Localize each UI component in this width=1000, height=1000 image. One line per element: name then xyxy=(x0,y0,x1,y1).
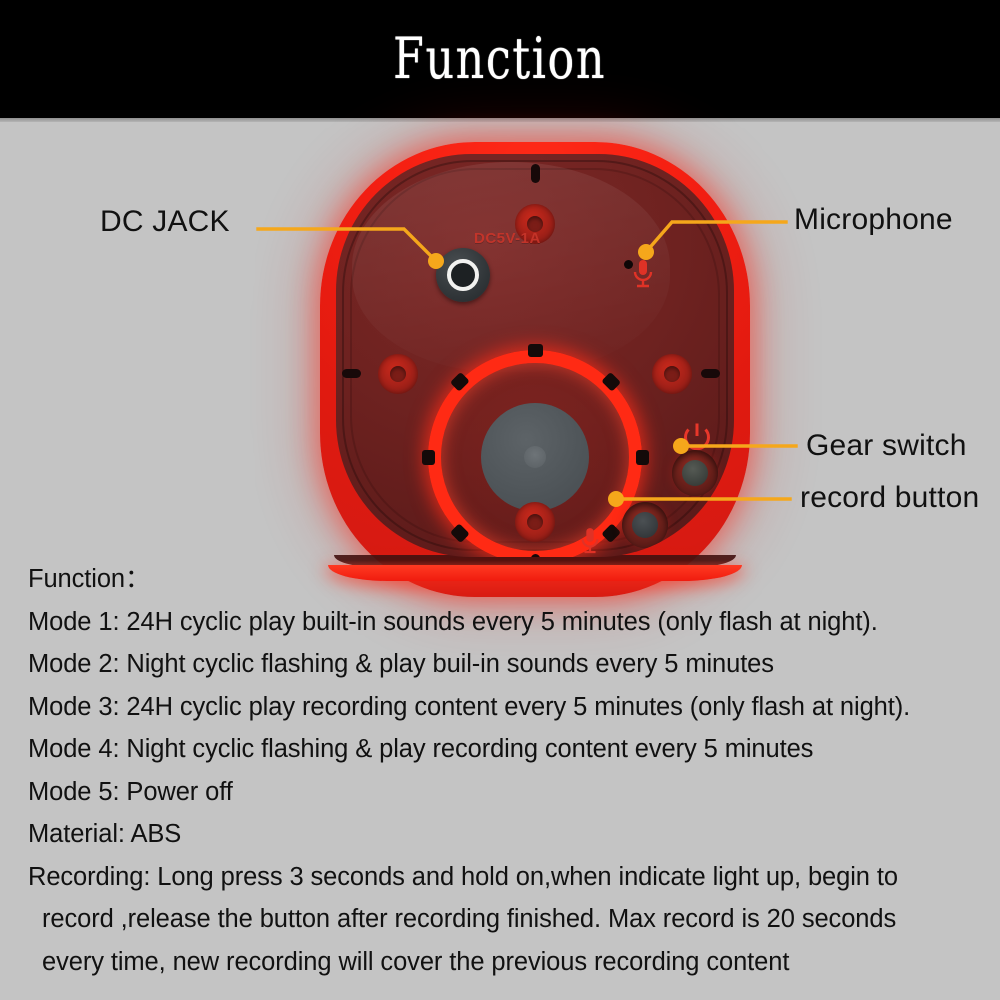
function-material-line: Material: ABS xyxy=(28,813,996,856)
record-button-cap xyxy=(632,512,658,538)
callout-label-dc-jack: DC JACK xyxy=(100,205,230,239)
recording-line-3: every time, new recording will cover the… xyxy=(28,941,996,984)
vent-slot xyxy=(531,554,540,557)
record-button[interactable] xyxy=(622,502,668,548)
screw-post-bottom xyxy=(515,502,555,542)
vent-slot xyxy=(342,369,361,378)
screw-post-left xyxy=(378,354,418,394)
callout-label-record-button: record button xyxy=(800,481,979,515)
microphone-icon xyxy=(578,526,602,556)
function-mode-line-3: Mode 3: 24H cyclic play recording conten… xyxy=(28,686,996,729)
infographic-page: Function xyxy=(0,0,1000,1000)
center-hole xyxy=(524,446,546,468)
screw-post-right xyxy=(652,354,692,394)
vent-slot xyxy=(701,369,720,378)
function-mode-line-1: Mode 1: 24H cyclic play built-in sounds … xyxy=(28,601,996,644)
device-top-face: DC5V-1A xyxy=(336,154,734,557)
page-title: Function xyxy=(394,26,607,92)
function-mode-line-2: Mode 2: Night cyclic flashing & play bui… xyxy=(28,643,996,686)
recording-line-1: Recording: Long press 3 seconds and hold… xyxy=(28,856,996,899)
device-body: DC5V-1A xyxy=(320,142,750,597)
ring-clip xyxy=(422,450,435,465)
vent-slot xyxy=(531,164,540,183)
gear-switch-cap xyxy=(682,460,708,486)
function-heading: Function： xyxy=(28,558,996,601)
ring-clip xyxy=(636,450,649,465)
center-hub xyxy=(481,403,589,511)
function-mode-line-5: Mode 5: Power off xyxy=(28,771,996,814)
product-photo: DC5V-1A xyxy=(0,122,1000,592)
callout-label-gear-switch: Gear switch xyxy=(806,429,967,463)
function-mode-line-4: Mode 4: Night cyclic flashing & play rec… xyxy=(28,728,996,771)
callout-label-microphone: Microphone xyxy=(794,203,953,237)
microphone-pinhole xyxy=(624,260,633,269)
dc-jack-ring xyxy=(447,259,479,291)
gear-switch-button[interactable] xyxy=(672,450,718,496)
function-description-block: Function： Mode 1: 24H cyclic play built-… xyxy=(28,558,996,983)
dc-rating-marking: DC5V-1A xyxy=(474,230,541,247)
title-banner: Function xyxy=(0,0,1000,118)
microphone-icon xyxy=(630,258,656,290)
ring-clip xyxy=(528,344,543,357)
dc-jack-port[interactable] xyxy=(436,248,490,302)
recording-line-2: record ,release the button after recordi… xyxy=(28,898,996,941)
